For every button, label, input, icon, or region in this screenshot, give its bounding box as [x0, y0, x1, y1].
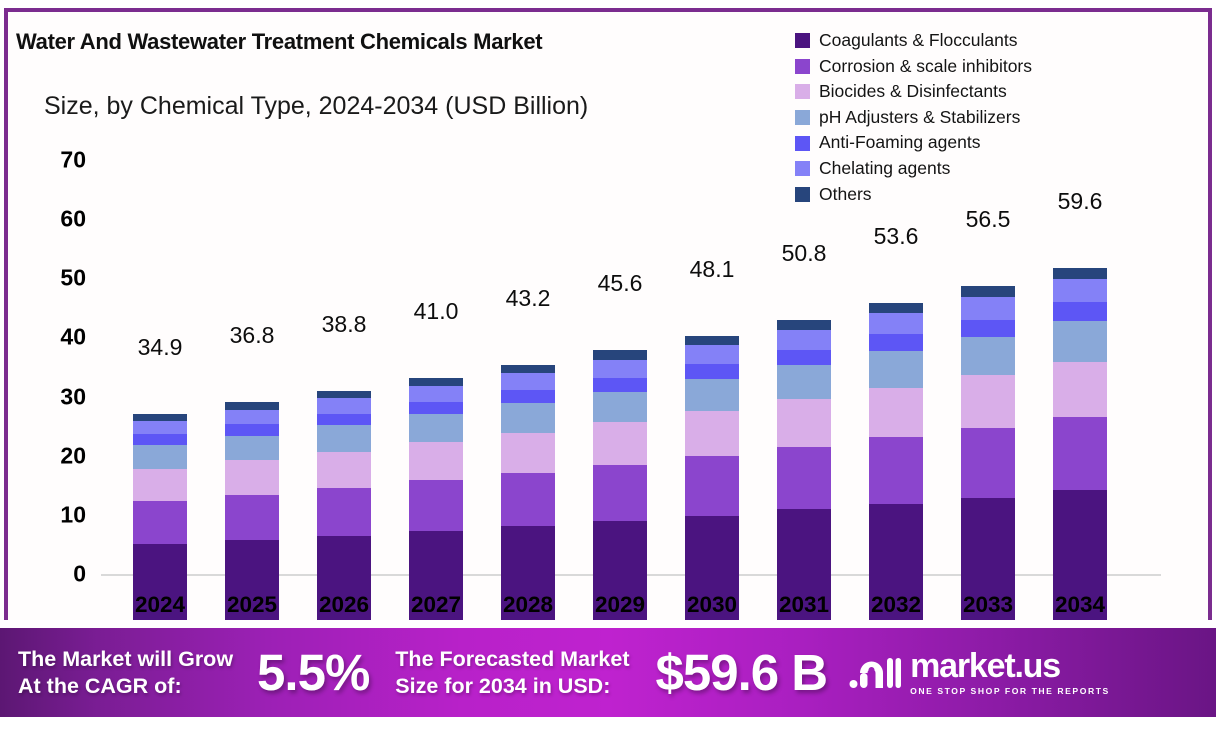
bar-segment[interactable]	[1053, 268, 1107, 279]
bar-segment[interactable]	[501, 473, 555, 526]
x-axis-tick-label: 2033	[942, 592, 1034, 618]
stacked-bar[interactable]	[593, 350, 647, 620]
bar-segment[interactable]	[317, 452, 371, 488]
bar-segment[interactable]	[225, 460, 279, 494]
plot-region: 01020304050607034.9202436.8202538.820264…	[8, 12, 1208, 620]
forecast-label-line1: The Forecasted Market	[395, 646, 629, 672]
stacked-bar[interactable]	[1053, 268, 1107, 620]
y-axis-tick-label: 60	[26, 206, 86, 233]
bar-segment[interactable]	[317, 414, 371, 426]
bar-segment[interactable]	[777, 447, 831, 510]
bar-segment[interactable]	[685, 364, 739, 379]
bar-group[interactable]	[1034, 58, 1126, 620]
bar-segment[interactable]	[685, 336, 739, 345]
bar-segment[interactable]	[133, 445, 187, 469]
bar-segment[interactable]	[593, 465, 647, 521]
bar-group[interactable]	[942, 58, 1034, 620]
bar-segment[interactable]	[869, 303, 923, 313]
logo-tagline: ONE STOP SHOP FOR THE REPORTS	[910, 686, 1110, 696]
bar-segment[interactable]	[409, 378, 463, 386]
bar-group[interactable]	[666, 58, 758, 620]
x-axis-tick-label: 2025	[206, 592, 298, 618]
x-axis-tick-label: 2029	[574, 592, 666, 618]
bar-segment[interactable]	[869, 388, 923, 438]
bar-segment[interactable]	[133, 414, 187, 421]
bar-group[interactable]	[574, 58, 666, 620]
x-axis-tick-label: 2027	[390, 592, 482, 618]
y-axis-tick-label: 30	[26, 383, 86, 410]
bar-segment[interactable]	[1053, 279, 1107, 303]
stacked-bar[interactable]	[961, 286, 1015, 620]
bar-segment[interactable]	[777, 365, 831, 399]
bar-segment[interactable]	[961, 428, 1015, 498]
x-axis-tick-label: 2028	[482, 592, 574, 618]
bar-group[interactable]	[482, 58, 574, 620]
bar-segment[interactable]	[1053, 302, 1107, 320]
x-axis-tick-label: 2032	[850, 592, 942, 618]
bar-value-label: 45.6	[574, 270, 666, 297]
bar-segment[interactable]	[961, 337, 1015, 375]
bar-segment[interactable]	[685, 411, 739, 456]
bar-segment[interactable]	[961, 286, 1015, 297]
bar-segment[interactable]	[501, 365, 555, 373]
bar-segment[interactable]	[501, 390, 555, 403]
bar-group[interactable]	[298, 58, 390, 620]
bar-segment[interactable]	[133, 501, 187, 544]
stacked-bar[interactable]	[133, 414, 187, 620]
bar-segment[interactable]	[961, 320, 1015, 337]
bar-segment[interactable]	[777, 350, 831, 365]
bar-value-label: 41.0	[390, 298, 482, 325]
y-axis-tick-label: 50	[26, 265, 86, 292]
bar-value-label: 50.8	[758, 240, 850, 267]
bar-group[interactable]	[850, 58, 942, 620]
x-axis-tick-label: 2024	[114, 592, 206, 618]
cagr-label-line2: At the CAGR of:	[18, 673, 233, 699]
y-axis-tick-label: 40	[26, 324, 86, 351]
bar-segment[interactable]	[685, 456, 739, 516]
bar-value-label: 38.8	[298, 311, 390, 338]
bar-segment[interactable]	[593, 378, 647, 392]
bar-segment[interactable]	[133, 421, 187, 435]
bar-segment[interactable]	[409, 480, 463, 531]
stacked-bar[interactable]	[685, 336, 739, 620]
bar-segment[interactable]	[777, 399, 831, 446]
y-axis-tick-label: 0	[26, 561, 86, 588]
bar-segment[interactable]	[409, 386, 463, 402]
bar-segment[interactable]	[409, 402, 463, 414]
bar-segment[interactable]	[1053, 362, 1107, 418]
bar-value-label: 43.2	[482, 285, 574, 312]
bar-segment[interactable]	[777, 330, 831, 350]
bar-segment[interactable]	[133, 469, 187, 502]
cagr-label: The Market will Grow At the CAGR of:	[18, 646, 233, 698]
bar-segment[interactable]	[1053, 417, 1107, 490]
bar-segment[interactable]	[409, 414, 463, 442]
bar-segment[interactable]	[133, 434, 187, 445]
bar-segment[interactable]	[685, 345, 739, 364]
bar-segment[interactable]	[225, 495, 279, 541]
bar-segment[interactable]	[225, 410, 279, 424]
bar-segment[interactable]	[317, 398, 371, 413]
bar-segment[interactable]	[225, 402, 279, 410]
bar-segment[interactable]	[593, 360, 647, 378]
bar-segment[interactable]	[777, 320, 831, 330]
bar-segment[interactable]	[961, 375, 1015, 428]
cagr-label-line1: The Market will Grow	[18, 646, 233, 672]
bar-segment[interactable]	[501, 373, 555, 390]
bar-segment[interactable]	[317, 425, 371, 452]
bar-value-label: 48.1	[666, 256, 758, 283]
bar-segment[interactable]	[593, 422, 647, 465]
bar-value-label: 59.6	[1034, 188, 1126, 215]
market-us-logo[interactable]: market.us ONE STOP SHOP FOR THE REPORTS	[849, 649, 1110, 696]
x-axis-tick-label: 2034	[1034, 592, 1126, 618]
bar-segment[interactable]	[961, 297, 1015, 319]
y-axis-tick-label: 20	[26, 442, 86, 469]
stacked-bar[interactable]	[869, 303, 923, 620]
stacked-bar[interactable]	[777, 320, 831, 620]
stacked-bar[interactable]	[225, 402, 279, 620]
bar-segment[interactable]	[869, 437, 923, 503]
y-axis-tick-label: 70	[26, 147, 86, 174]
bar-segment[interactable]	[869, 313, 923, 334]
forecast-label-line2: Size for 2034 in USD:	[395, 673, 629, 699]
x-axis-tick-label: 2031	[758, 592, 850, 618]
bar-value-label: 53.6	[850, 223, 942, 250]
bar-value-label: 56.5	[942, 206, 1034, 233]
y-axis-tick-label: 10	[26, 501, 86, 528]
logo-wordmark: market.us	[910, 649, 1110, 683]
bar-series-container: 34.9202436.8202538.8202641.0202743.22028…	[106, 12, 1198, 620]
market-us-logo-text: market.us ONE STOP SHOP FOR THE REPORTS	[910, 649, 1110, 696]
x-axis-tick-label: 2026	[298, 592, 390, 618]
bar-segment[interactable]	[225, 424, 279, 435]
chart-area: Water And Wastewater Treatment Chemicals…	[8, 12, 1208, 620]
bar-segment[interactable]	[501, 403, 555, 433]
bar-segment[interactable]	[317, 488, 371, 536]
infographic-root: Water And Wastewater Treatment Chemicals…	[0, 0, 1216, 741]
bar-segment[interactable]	[869, 351, 923, 388]
bar-segment[interactable]	[685, 379, 739, 412]
bar-segment[interactable]	[1053, 321, 1107, 362]
bar-segment[interactable]	[225, 436, 279, 461]
bar-value-label: 34.9	[114, 334, 206, 361]
bar-segment[interactable]	[317, 391, 371, 399]
x-axis-tick-label: 2030	[666, 592, 758, 618]
bar-segment[interactable]	[409, 442, 463, 480]
forecast-value: $59.6 B	[656, 647, 828, 698]
bar-segment[interactable]	[869, 334, 923, 351]
cagr-value: 5.5%	[257, 647, 369, 698]
bar-segment[interactable]	[501, 433, 555, 473]
stacked-bar[interactable]	[501, 365, 555, 620]
stacked-bar[interactable]	[409, 378, 463, 620]
bar-group[interactable]	[390, 58, 482, 620]
forecast-label: The Forecasted Market Size for 2034 in U…	[395, 646, 629, 698]
bar-segment[interactable]	[593, 392, 647, 423]
stacked-bar[interactable]	[317, 391, 371, 620]
bar-group[interactable]	[758, 58, 850, 620]
bar-segment[interactable]	[593, 350, 647, 359]
bar-value-label: 36.8	[206, 322, 298, 349]
summary-banner: The Market will Grow At the CAGR of: 5.5…	[0, 628, 1216, 717]
market-us-logo-icon	[849, 653, 901, 693]
